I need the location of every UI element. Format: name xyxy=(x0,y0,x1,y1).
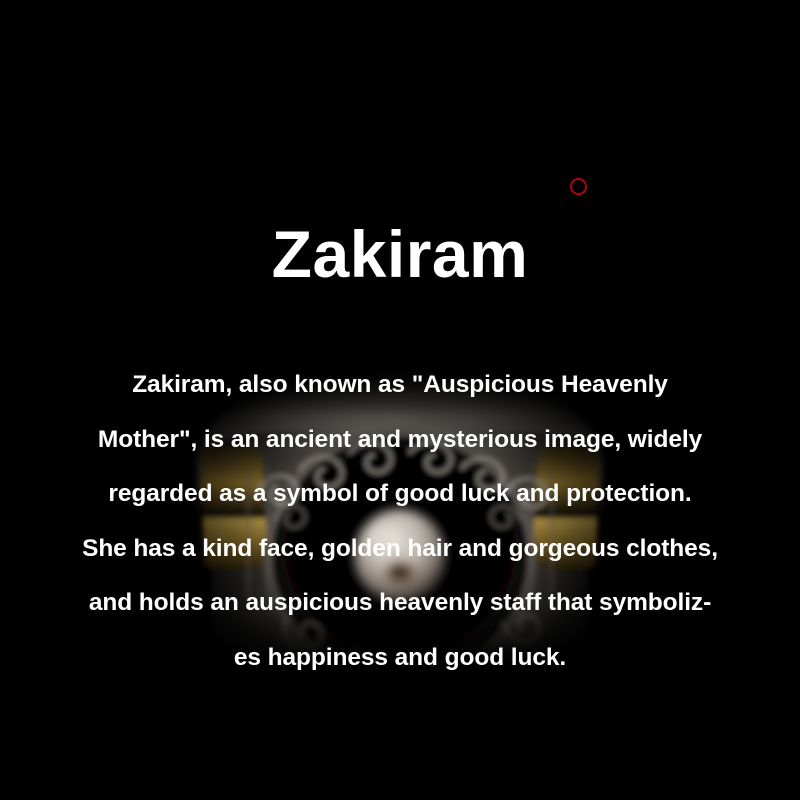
description-text: Zakiram, also known as "Auspicious Heave… xyxy=(55,358,745,685)
description-line: and holds an auspicious heavenly staff t… xyxy=(55,576,745,631)
description-line: regarded as a symbol of good luck and pr… xyxy=(55,467,745,522)
title-row: Zakiram xyxy=(0,176,800,334)
description-line: Zakiram, also known as "Auspicious Heave… xyxy=(55,358,745,413)
page-title: Zakiram xyxy=(272,220,529,289)
description-line: es happiness and good luck. xyxy=(55,631,745,686)
description-line: She has a kind face, golden hair and gor… xyxy=(55,522,745,577)
description-line: Mother", is an ancient and mysterious im… xyxy=(55,413,745,468)
red-circle-outline-icon xyxy=(570,178,587,195)
product-detail-card: Zakiram Zakiram, also known as "Auspicio… xyxy=(0,0,800,800)
